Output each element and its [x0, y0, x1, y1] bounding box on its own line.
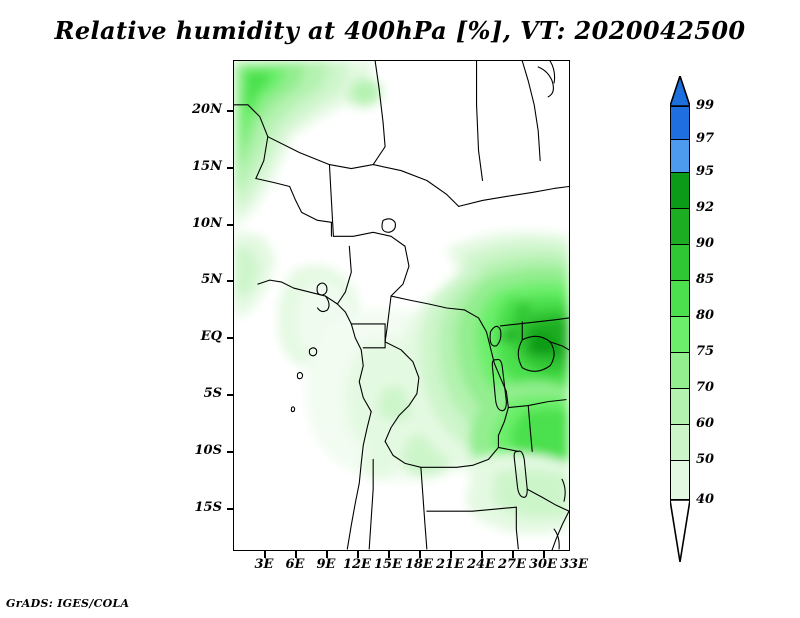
colorbar-label-90: 90 — [696, 237, 714, 250]
colorbar[interactable]: 99 97 95 92 90 85 80 75 70 60 50 40 — [660, 70, 780, 570]
colorbar-label-70: 70 — [696, 381, 714, 394]
colorbar-band-90-92 — [670, 208, 690, 244]
y-tick-mark — [227, 451, 234, 453]
y-tick-label-5s: 5S — [178, 387, 222, 400]
y-tick-mark — [227, 110, 234, 112]
map-canvas — [234, 61, 569, 550]
colorbar-extend-min-arrow — [670, 500, 690, 562]
colorbar-label-60: 60 — [696, 417, 714, 430]
colorbar-band-80-85 — [670, 280, 690, 316]
y-tick-label-eq: EQ — [178, 330, 222, 343]
grads-attribution: GrADS: IGES/COLA — [6, 597, 129, 610]
colorbar-label-75: 75 — [696, 345, 714, 358]
y-tick-label-15n: 15N — [178, 160, 222, 173]
y-tick-mark — [227, 394, 234, 396]
colorbar-label-40: 40 — [696, 493, 714, 506]
colorbar-band-60-70 — [670, 388, 690, 424]
y-tick-mark — [227, 337, 234, 339]
colorbar-label-85: 85 — [696, 273, 714, 286]
colorbar-band-97-99 — [670, 106, 690, 139]
colorbar-band-75-80 — [670, 316, 690, 352]
y-tick-label-15s: 15S — [178, 501, 222, 514]
colorbar-band-70-75 — [670, 352, 690, 388]
colorbar-label-80: 80 — [696, 309, 714, 322]
y-tick-label-10n: 10N — [178, 217, 222, 230]
y-tick-mark — [227, 224, 234, 226]
y-tick-label-20n: 20N — [178, 103, 222, 116]
y-tick-mark — [227, 280, 234, 282]
y-tick-mark — [227, 167, 234, 169]
y-tick-label-10s: 10S — [178, 444, 222, 457]
humidity-shading — [234, 61, 569, 534]
x-tick-label-33e: 33E — [554, 558, 594, 571]
colorbar-label-99: 99 — [696, 99, 714, 112]
colorbar-band-92-95 — [670, 172, 690, 208]
colorbar-label-92: 92 — [696, 201, 714, 214]
colorbar-band-85-90 — [670, 244, 690, 280]
colorbar-band-40-50 — [670, 460, 690, 500]
y-tick-label-5n: 5N — [178, 273, 222, 286]
colorbar-band-95-97 — [670, 139, 690, 172]
colorbar-extend-max-arrow — [670, 76, 690, 106]
y-tick-mark — [227, 508, 234, 510]
map-plot-area[interactable] — [233, 60, 570, 551]
colorbar-label-50: 50 — [696, 453, 714, 466]
colorbar-band-50-60 — [670, 424, 690, 460]
colorbar-label-95: 95 — [696, 165, 714, 178]
colorbar-label-97: 97 — [696, 132, 714, 145]
page-title: Relative humidity at 400hPa [%], VT: 202… — [0, 16, 800, 45]
